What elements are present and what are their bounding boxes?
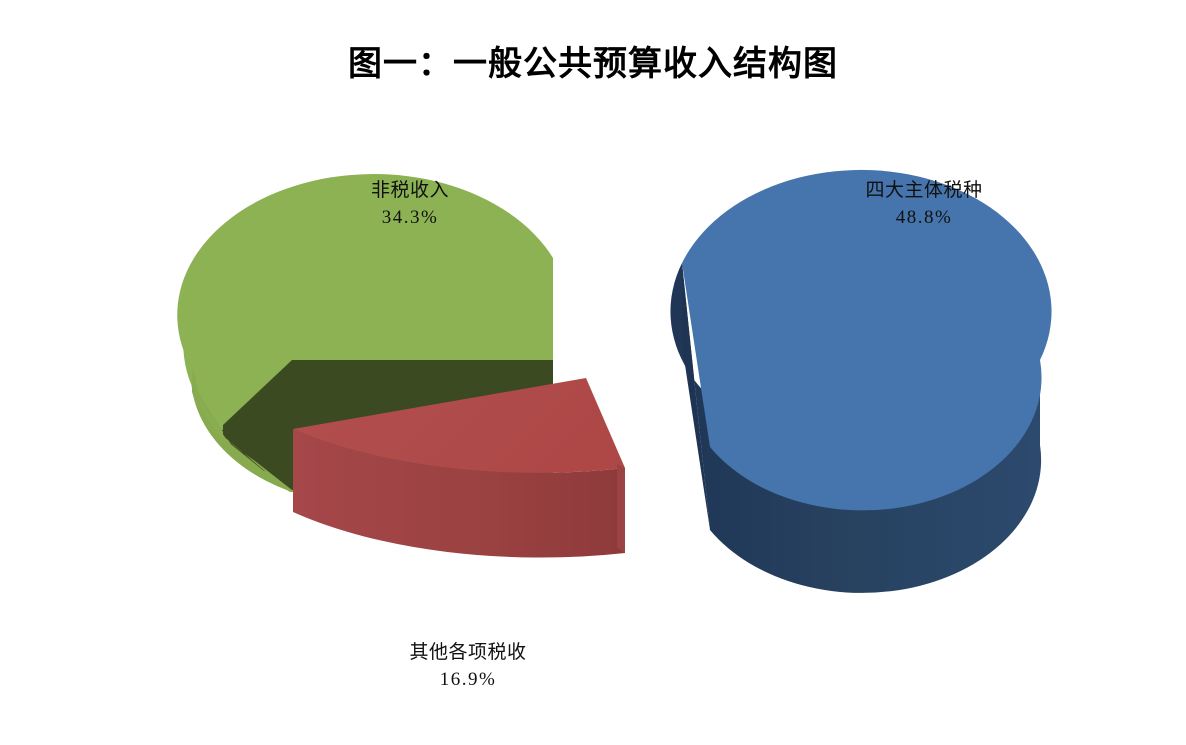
slice-label-fourmain-name: 四大主体税种	[774, 178, 1074, 205]
slice-label-fourmain: 四大主体税种 48.8%	[774, 178, 1074, 232]
chart-canvas: 图一：一般公共预算收入结构图	[0, 0, 1186, 745]
slice-label-othertax-name: 其他各项税收	[318, 640, 618, 667]
pie-slice-othertax-cut	[617, 464, 625, 553]
slice-label-nontax-pct: 34.3%	[260, 205, 560, 232]
pie-chart-3d	[0, 0, 1186, 745]
slice-label-nontax: 非税收入 34.3%	[260, 178, 560, 232]
slice-label-othertax: 其他各项税收 16.9%	[318, 640, 618, 694]
slice-label-fourmain-pct: 48.8%	[774, 205, 1074, 232]
pie-slice-fourmain[interactable]	[670, 170, 1051, 593]
slice-label-nontax-name: 非税收入	[260, 178, 560, 205]
slice-label-othertax-pct: 16.9%	[318, 667, 618, 694]
